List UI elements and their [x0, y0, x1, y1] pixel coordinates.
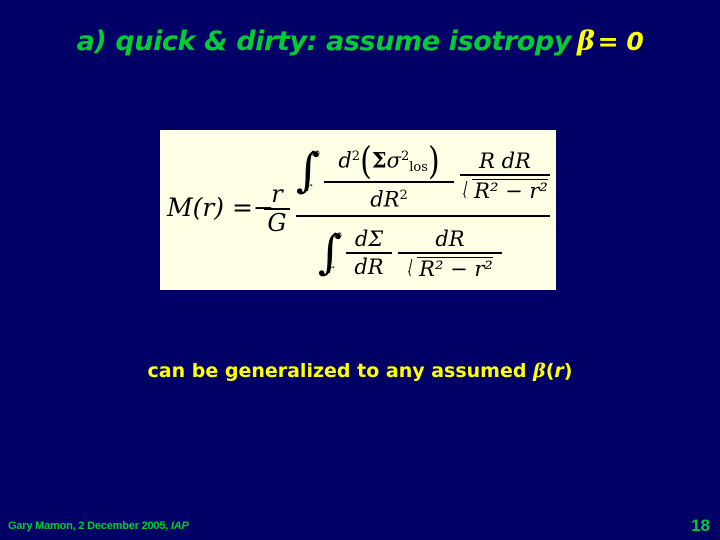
d-exponent: 2 [352, 149, 360, 164]
denominator-term-two-bottom: R² − r² [398, 255, 502, 281]
numerator-term-two-top: R dR [460, 149, 550, 173]
integral-upper-limit: ∞ [310, 146, 321, 161]
title-beta-symbol: β [571, 26, 595, 57]
caption-beta-symbol: β [533, 360, 546, 382]
denominator-term-one-top: dΣ [346, 227, 392, 251]
sqrt-vinculum [417, 257, 493, 259]
denominator-integral-sign: ∫ ∞ r [318, 229, 342, 275]
sqrt-vinculum [472, 179, 548, 181]
caption-argument: r [554, 360, 563, 382]
sigma-capital: Σ [372, 148, 387, 173]
d-symbol: d [338, 149, 351, 173]
sigma-lower: σ [387, 149, 401, 173]
denominator-term-one-bar [346, 252, 392, 254]
title-equals-value: = 0 [595, 27, 644, 56]
integral-lower-limit: r [306, 180, 312, 194]
page-number: 18 [691, 516, 710, 536]
numerator-integral-sign: ∫ ∞ r [296, 147, 320, 193]
dR-exponent: 2 [399, 188, 407, 203]
numerator-term-one-top: d2(Σσ2los) [324, 145, 454, 180]
close-paren: ) [428, 147, 440, 177]
sqrt-denominator: R² − r² [407, 255, 493, 281]
main-fraction-denominator: ∫ ∞ r dΣ dR dR R² − r² [318, 219, 550, 290]
denominator-term-two-top: dR [398, 227, 502, 251]
integral-upper-limit: ∞ [332, 228, 343, 243]
footer-institute: IAP [171, 520, 189, 532]
numerator-term-one: d2(Σσ2los) dR2 [324, 145, 454, 211]
main-fraction-numerator: ∫ ∞ r d2(Σσ2los) dR2 R dR R² − r² [296, 139, 550, 213]
footer-author-date: Gary Mamon, 2 December 2005, [8, 520, 168, 532]
dR-symbol: dR [354, 255, 383, 279]
numerator-term-two: R dR R² − r² [460, 149, 550, 203]
denominator-term-one: dΣ dR [346, 227, 392, 279]
formula-lhs: M(r) =− [167, 193, 274, 222]
integral-lower-limit: r [328, 262, 334, 276]
dR-symbol: dR [370, 187, 399, 211]
numerator-term-two-bottom: R² − r² [460, 177, 550, 203]
caption-paren-close: ) [564, 360, 573, 382]
sqrt-radicand: R² − r² [474, 177, 548, 203]
main-fraction-bar [296, 215, 550, 217]
prefactor-numerator: r [264, 182, 290, 207]
caption-text: can be generalized to any assumed β(r) [0, 360, 720, 382]
slide-canvas: a) quick & dirty: assume isotropyβ= 0 M(… [0, 0, 720, 540]
numerator-term-two-bar [460, 174, 550, 176]
formula-image-panel: M(r) =− r G ∫ ∞ r [160, 130, 556, 290]
formula-prefactor-fraction: r G [264, 182, 290, 236]
formula-content: M(r) =− r G ∫ ∞ r [160, 130, 556, 290]
open-paren: ( [360, 147, 372, 177]
dSigma-symbol: dΣ [355, 227, 383, 251]
sigma-subscript: los [409, 160, 428, 175]
denominator-term-two: dR R² − r² [398, 227, 502, 281]
denominator-term-one-bottom: dR [346, 255, 392, 279]
numerator-term-one-bottom: dR2 [324, 184, 454, 212]
title-main-text: a) quick & dirty: assume isotropy [77, 26, 571, 57]
sqrt-numerator: R² − r² [462, 177, 548, 203]
page-title: a) quick & dirty: assume isotropyβ= 0 [0, 26, 720, 57]
footer-attribution: Gary Mamon, 2 December 2005, IAP [8, 520, 189, 532]
prefactor-denominator: G [264, 211, 290, 236]
formula-lhs-text: M(r) = [167, 193, 253, 222]
denominator-term-two-bar [398, 252, 502, 254]
sqrt-radicand: R² − r² [419, 255, 493, 281]
caption-main: can be generalized to any assumed [148, 360, 527, 382]
